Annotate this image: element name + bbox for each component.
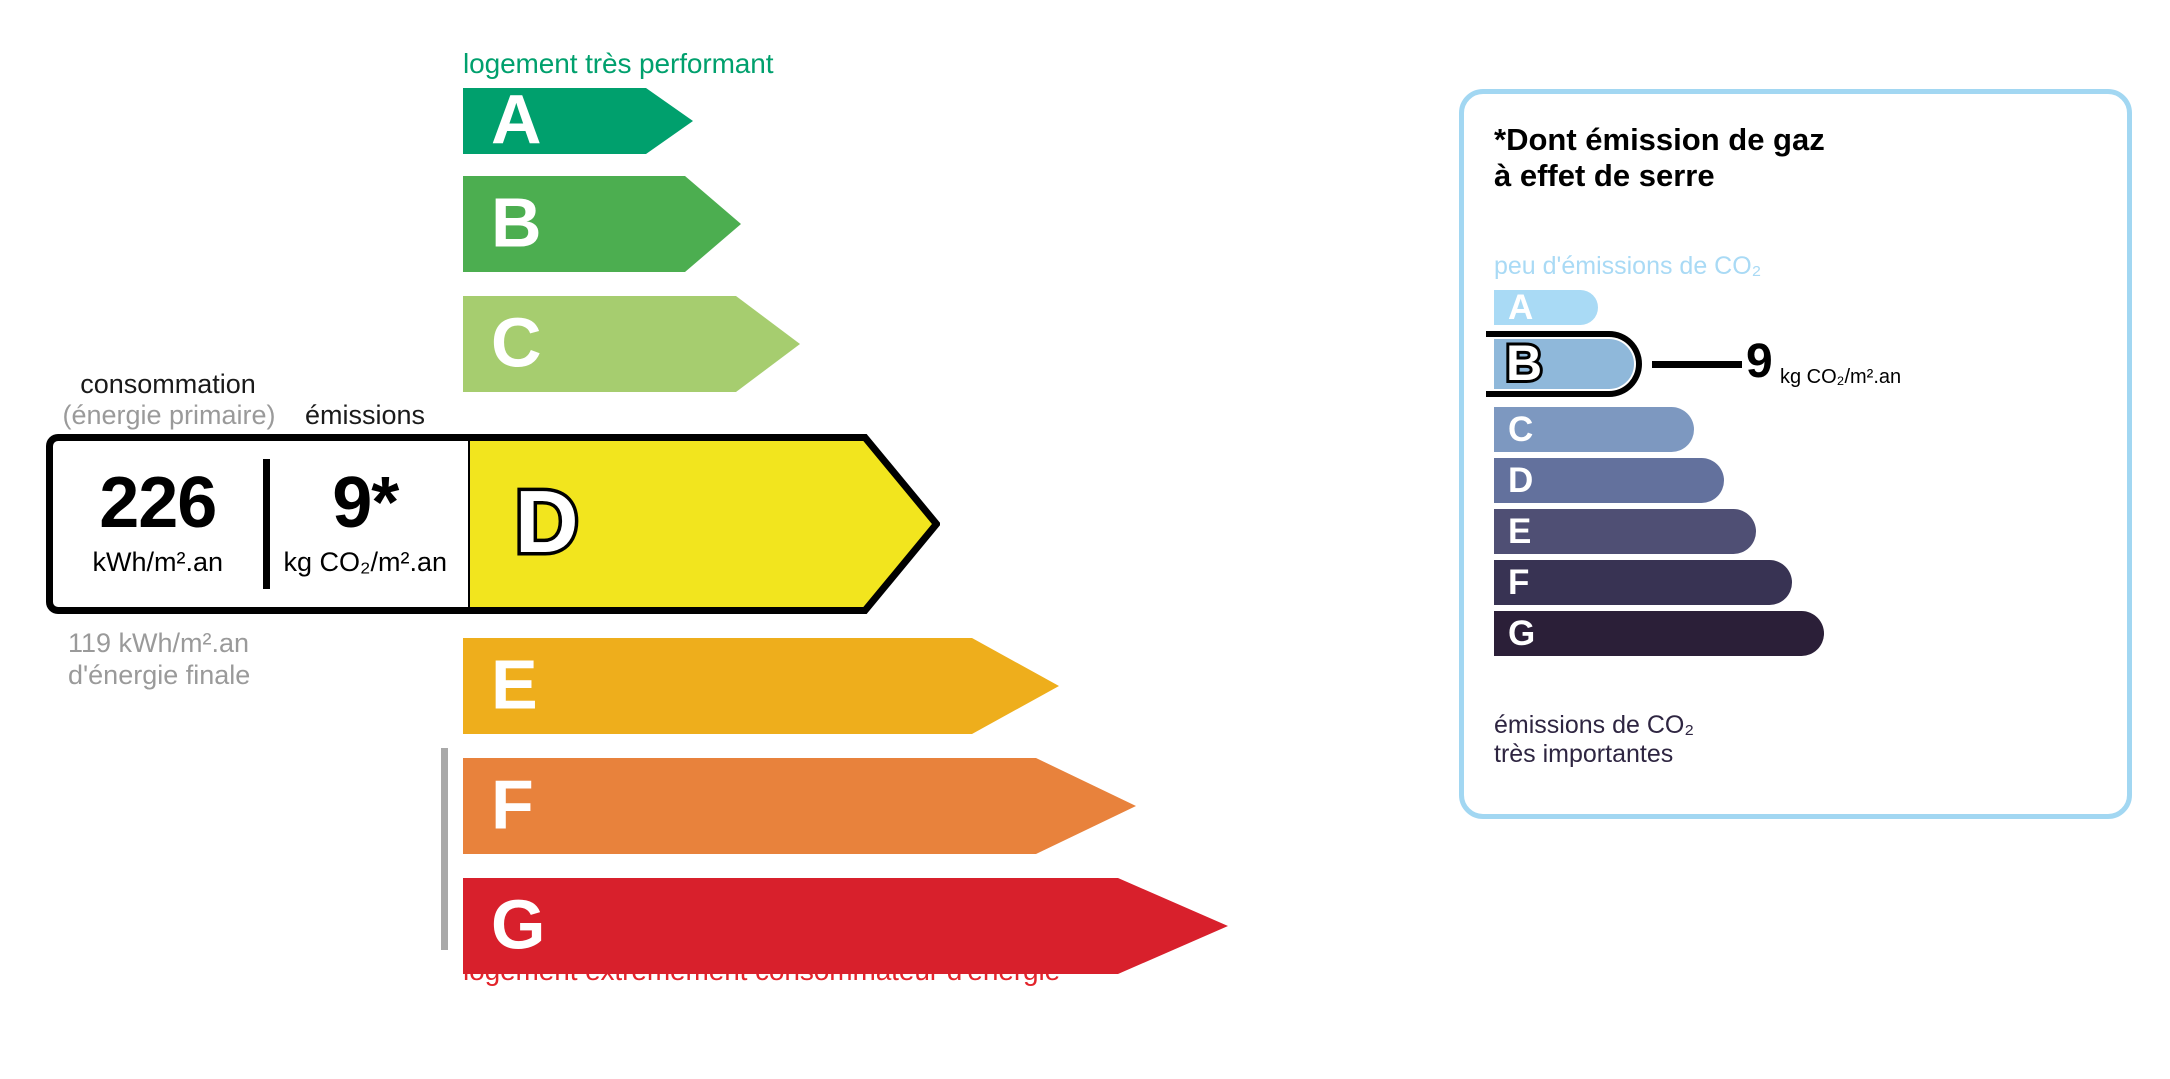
dpe-diagram: logement très performant ABCDEFG consomm…	[0, 0, 2170, 1079]
energy-class-arrow-g: G	[463, 878, 1228, 974]
energy-class-arrow-f: F	[463, 758, 1136, 854]
co2-bottom-line1: émissions de CO₂	[1494, 711, 1694, 740]
co2-class-letter-c: C	[1508, 411, 1533, 446]
co2-class-letter-d: D	[1508, 462, 1533, 497]
energy-class-row-b: B	[463, 176, 741, 272]
co2-emission-panel: *Dont émission de gaz à effet de serre p…	[1459, 89, 2132, 819]
energy-class-letter-d: D	[515, 478, 579, 566]
co2-leader-line	[1652, 361, 1742, 368]
co2-panel-title: *Dont émission de gaz à effet de serre	[1494, 122, 1825, 195]
final-energy-line2: d'énergie finale	[68, 660, 250, 692]
co2-bottom-line2: très importantes	[1494, 740, 1694, 769]
energy-class-arrow-c: C	[463, 296, 800, 392]
energy-class-arrow-d: D	[463, 434, 940, 614]
co2-class-letter-e: E	[1508, 513, 1531, 548]
co2-class-letter-f: F	[1508, 564, 1529, 599]
co2-title-line1: *Dont émission de gaz	[1494, 122, 1825, 158]
passoire-bracket-line	[441, 748, 448, 950]
co2-bottom-caption: émissions de CO₂ très importantes	[1494, 711, 1694, 770]
primary-energy-unit: kWh/m².an	[93, 547, 224, 578]
energy-class-letter-e: E	[491, 650, 538, 720]
co2-title-line2: à effet de serre	[1494, 158, 1825, 194]
energy-class-letter-g: G	[491, 890, 545, 960]
energy-class-letter-c: C	[491, 308, 542, 378]
energy-class-arrow-e: E	[463, 638, 1059, 734]
energy-consumption-scale: logement très performant ABCDEFG consomm…	[0, 0, 1420, 1079]
co2-class-row-b: B	[1494, 339, 1634, 389]
co2-class-row-a: A	[1494, 290, 1598, 325]
energy-class-arrow-b: B	[463, 176, 741, 272]
co2-class-letter-a: A	[1508, 289, 1533, 324]
co2-class-row-c: C	[1494, 407, 1694, 452]
final-energy-line1: 119 kWh/m².an	[68, 628, 250, 660]
energy-class-row-a: A	[463, 88, 693, 154]
co2-class-bar-g	[1494, 611, 1824, 656]
co2-class-row-f: F	[1494, 560, 1792, 605]
co2-class-bar-e	[1494, 509, 1756, 554]
energy-class-row-e: E	[463, 638, 1059, 734]
co2-callout-value: 9	[1746, 338, 1773, 386]
co2-class-row-e: E	[1494, 509, 1756, 554]
energy-class-row-g: G	[463, 878, 1228, 974]
scale-top-caption: logement très performant	[463, 48, 773, 80]
energy-class-arrow-a: A	[463, 88, 693, 154]
co2-emission-unit: kg CO₂/m².an	[284, 547, 448, 578]
co2-class-bar-f	[1494, 560, 1792, 605]
primary-energy-cell: 226 kWh/m².an	[53, 441, 263, 607]
co2-emission-cell: 9* kg CO₂/m².an	[263, 441, 468, 607]
energy-class-row-d: D	[463, 434, 940, 614]
co2-top-caption: peu d'émissions de CO₂	[1494, 252, 1761, 281]
co2-class-row-g: G	[1494, 611, 1824, 656]
co2-emission-value: 9*	[332, 467, 398, 539]
label-consommation: consommation	[68, 369, 268, 400]
co2-callout-unit: kg CO₂/m².an	[1780, 366, 1901, 389]
energy-class-letter-b: B	[491, 188, 542, 258]
co2-class-letter-b: B	[1506, 338, 1542, 388]
current-rating-value-box: 226 kWh/m².an 9* kg CO₂/m².an	[46, 434, 468, 614]
label-emissions: émissions	[305, 400, 425, 431]
co2-class-row-d: D	[1494, 458, 1724, 503]
energy-class-row-f: F	[463, 758, 1136, 854]
energy-class-letter-f: F	[491, 770, 534, 840]
energy-class-letter-a: A	[491, 85, 542, 155]
energy-class-row-c: C	[463, 296, 800, 392]
label-energie-primaire: (énergie primaire)	[46, 400, 292, 431]
co2-class-letter-g: G	[1508, 615, 1535, 650]
final-energy-note: 119 kWh/m².an d'énergie finale	[68, 628, 250, 692]
primary-energy-value: 226	[99, 467, 216, 539]
